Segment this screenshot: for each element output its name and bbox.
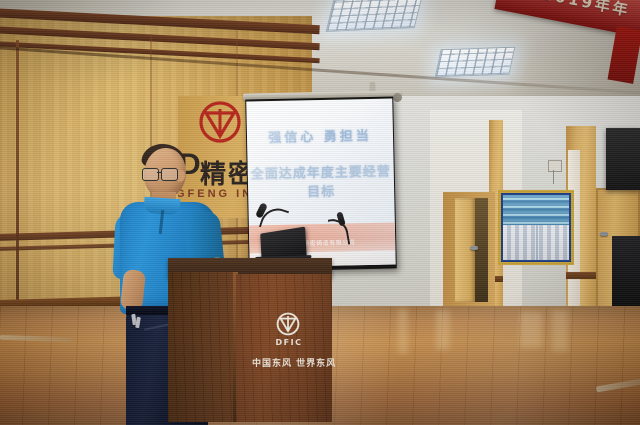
slide-headline: 强信心 勇担当 <box>247 124 393 146</box>
window-pane <box>503 195 569 260</box>
dongfeng-emblem-logo-icon <box>276 312 300 336</box>
wall-loudspeaker <box>606 128 640 190</box>
ceiling-hook <box>370 82 375 91</box>
window-shading <box>503 195 569 260</box>
panel-seam <box>16 40 19 336</box>
floor-reflection <box>552 310 568 352</box>
recessed-grid-light-icon <box>326 0 423 32</box>
floor-reflection <box>436 310 450 350</box>
recessed-grid-light-icon <box>435 47 516 78</box>
left-forearm <box>120 269 146 311</box>
conference-hall-photo: D 精密铸 GFENG INVESTI 强信心 勇担当 全面达成年度主要经营目标… <box>0 0 640 425</box>
glasses-icon <box>142 168 178 179</box>
floor-reflection <box>520 312 542 348</box>
slide-subheadline: 全面达成年度主要经营目标 <box>248 160 395 201</box>
wall-socket[interactable] <box>548 160 562 172</box>
podium-brand-latin: DFIC <box>272 338 306 347</box>
podium-front-panel <box>236 274 332 422</box>
door-handle-icon[interactable] <box>600 232 608 236</box>
pillar-trim-band <box>566 272 596 279</box>
dongfeng-swallow-logo-icon <box>198 100 242 144</box>
podium-side-panel <box>168 272 238 422</box>
open-door-gap <box>475 198 488 302</box>
floor-reflection <box>398 308 408 354</box>
window <box>498 190 574 265</box>
socket-cord <box>553 170 554 184</box>
belt-keys <box>132 314 140 332</box>
door-handle-icon[interactable] <box>470 246 478 250</box>
wall-loudspeaker <box>612 236 640 308</box>
left-door[interactable] <box>455 198 475 302</box>
podium-brand-chinese: 中国东风 世界东风 <box>252 356 328 369</box>
